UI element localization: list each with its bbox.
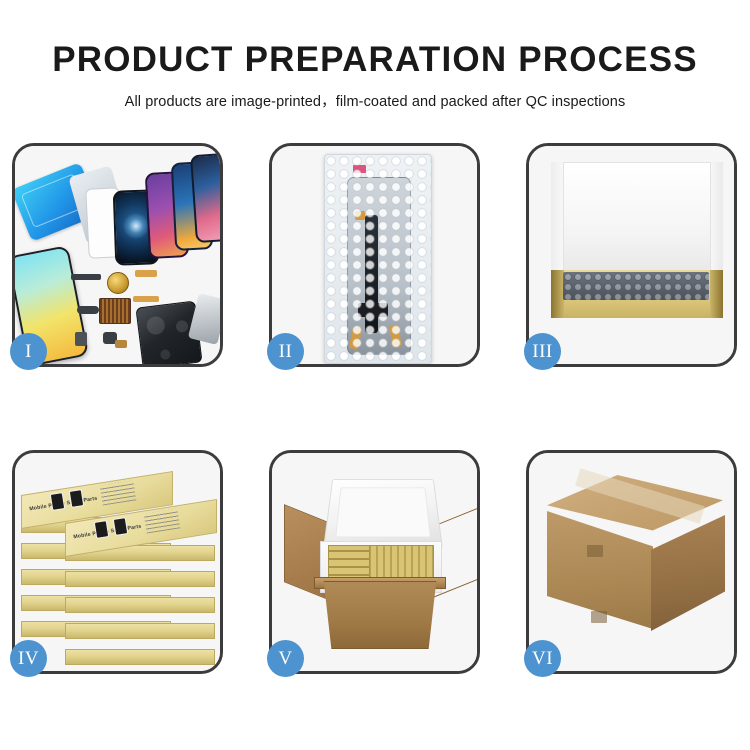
inner-box-illustration <box>529 146 734 364</box>
carton-packing-illustration <box>272 453 477 671</box>
box-product-thumb-icon <box>50 492 65 511</box>
foam-box-lid-icon <box>323 479 443 549</box>
stacked-boxes-illustration: Mobile Phone Spare Parts Mobile Phone Sp… <box>15 453 220 671</box>
carton-right-face-icon <box>651 515 725 631</box>
camera-module-icon <box>77 306 99 314</box>
step-image-1 <box>15 146 220 364</box>
step-panel-6: VI <box>526 450 737 674</box>
bubble-wrapped-contents-icon <box>563 272 709 300</box>
product-preparation-page: PRODUCT PREPARATION PROCESS All products… <box>0 0 750 750</box>
battery-connector-icon <box>75 332 87 346</box>
phone-pink-icon <box>190 153 220 243</box>
step-panel-5: V <box>269 450 480 674</box>
page-subtitle: All products are image-printed，film-coat… <box>0 77 750 111</box>
carton-front-face-icon <box>316 581 444 649</box>
step-image-3 <box>529 146 734 364</box>
phone-parts-illustration <box>15 146 220 364</box>
cable-connector-icon <box>358 303 388 317</box>
step-image-2 <box>272 146 477 364</box>
box-product-thumb-icon <box>113 517 128 536</box>
small-connector-icon <box>115 340 127 348</box>
bubble-wrap-illustration <box>272 146 477 364</box>
bubble-wrap-bag-icon <box>324 154 432 364</box>
carton-tab-lower-icon <box>591 611 607 623</box>
step-badge-2: II <box>267 333 304 370</box>
chip-part-icon <box>71 274 101 280</box>
stacked-box-icon <box>65 571 215 587</box>
screw-tray-icon <box>99 298 131 324</box>
process-steps-grid: I II <box>12 143 738 679</box>
step-panel-3: III <box>526 143 737 367</box>
stacked-box-icon <box>65 623 215 639</box>
step-badge-3: III <box>524 333 561 370</box>
flex-cable-icon <box>135 270 157 277</box>
white-box-lid-icon <box>563 162 711 282</box>
gold-contact-icon <box>355 211 365 220</box>
step-badge-4: IV <box>10 640 47 677</box>
repair-tool-icon <box>188 293 220 345</box>
sealed-carton-illustration <box>529 453 734 671</box>
step-panel-4: Mobile Phone Spare Parts Mobile Phone Sp… <box>12 450 223 674</box>
stacked-box-icon <box>65 597 215 613</box>
step-badge-5: V <box>267 640 304 677</box>
box-edge-right-icon <box>710 270 723 318</box>
page-header: PRODUCT PREPARATION PROCESS All products… <box>0 0 750 111</box>
page-title: PRODUCT PREPARATION PROCESS <box>0 0 750 77</box>
step-panel-1: I <box>12 143 223 367</box>
step-panel-2: II <box>269 143 480 367</box>
pink-qc-sticker-icon <box>353 165 366 173</box>
box-product-thumb-icon <box>69 489 84 508</box>
carton-tab-upper-icon <box>587 545 603 557</box>
step-badge-6: VI <box>524 640 561 677</box>
box-product-thumb-icon <box>94 520 109 539</box>
step-image-4: Mobile Phone Spare Parts Mobile Phone Sp… <box>15 453 220 671</box>
stacked-box-icon <box>65 649 215 665</box>
speaker-coil-icon <box>107 272 129 294</box>
step-badge-1: I <box>10 333 47 370</box>
flex-cable-2-icon <box>133 296 159 302</box>
step-image-5 <box>272 453 477 671</box>
step-image-6 <box>529 453 734 671</box>
